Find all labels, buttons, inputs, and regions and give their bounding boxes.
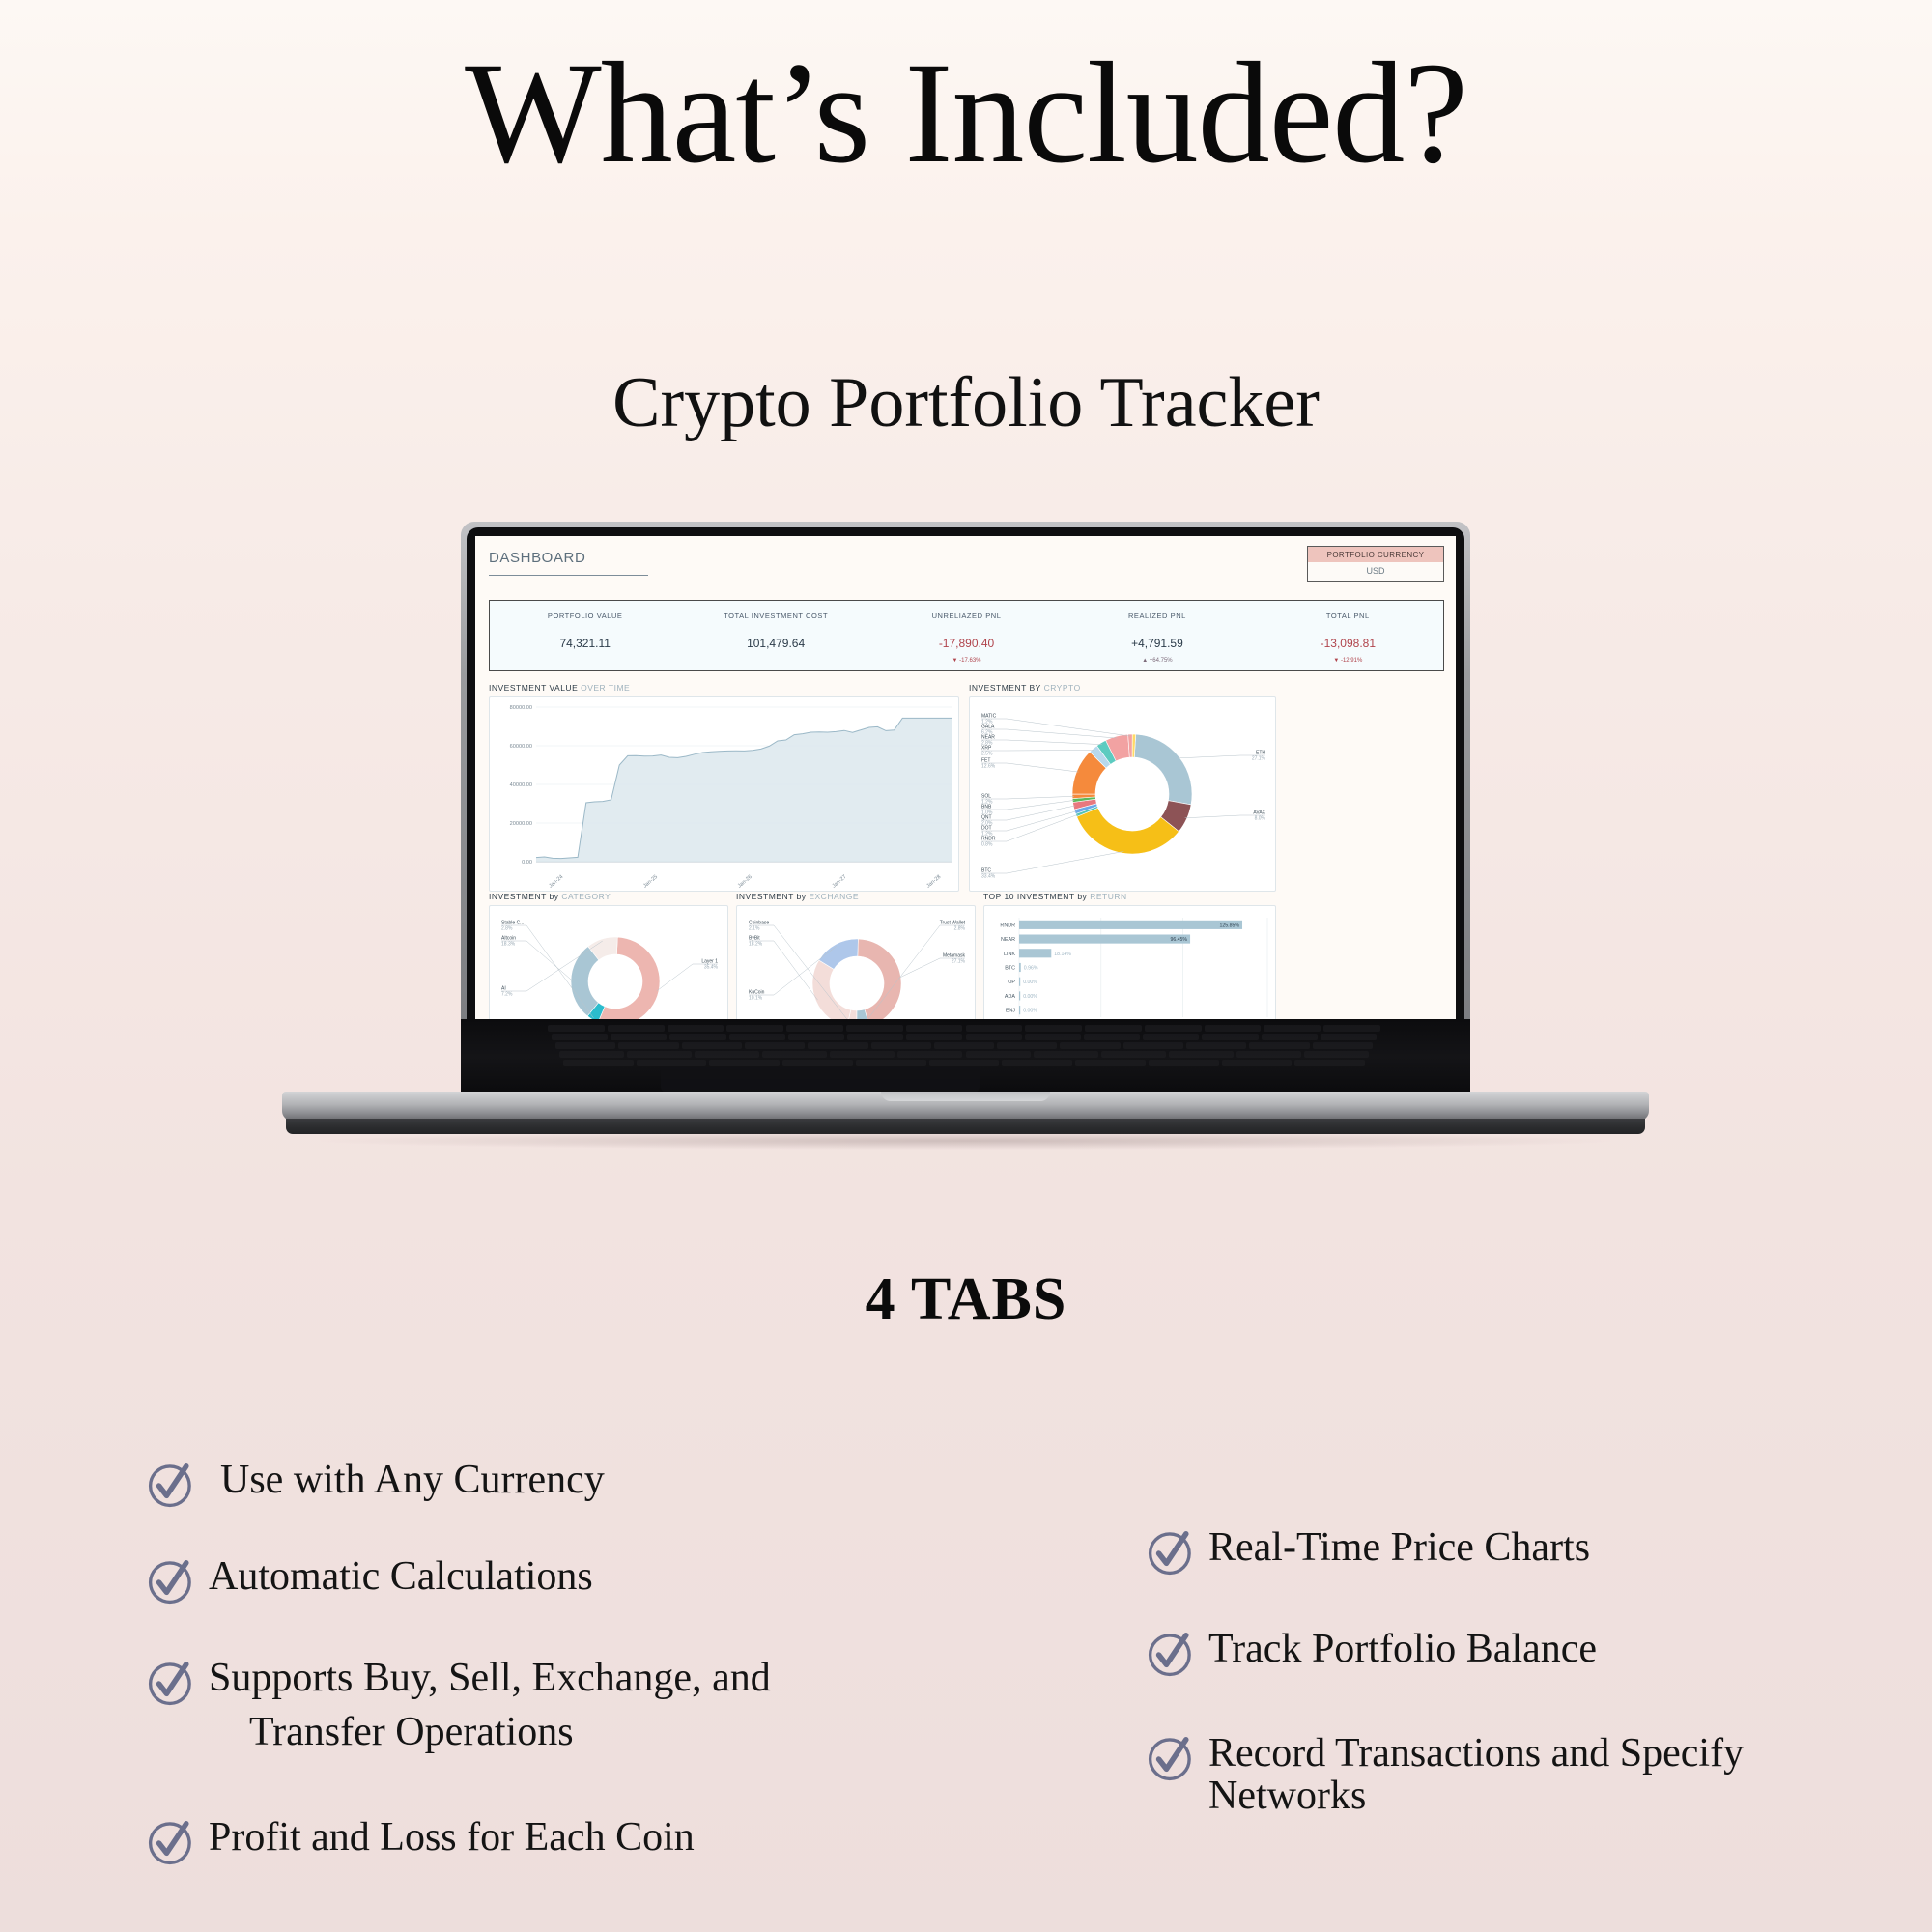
svg-text:BTC: BTC (1005, 966, 1015, 972)
kpi-value: -13,098.81 (1253, 637, 1443, 650)
chart-donut-container: Stable C...2.8%Altcoin18.3%AI7.2%Layer 1… (489, 905, 728, 1019)
panel-title: INVESTMENT by EXCHANGE (736, 892, 976, 901)
panel-title-bold: TOP 10 INVESTMENT by (983, 892, 1087, 901)
feature-label: Profit and Loss for Each Coin (209, 1816, 695, 1859)
panel-title-bold: INVESTMENT VALUE (489, 683, 578, 693)
panel-top10-investment-by-return: TOP 10 INVESTMENT by RETURN RNDR125.85%N… (983, 892, 1276, 1019)
chart-donut-container: Coinbase2.1%ByBit18.2%KuCoin10.1%Trust W… (736, 905, 976, 1019)
panel-title-bold: INVESTMENT by (489, 892, 558, 901)
check-circle-icon (1145, 1732, 1197, 1784)
check-circle-icon (145, 1555, 197, 1607)
area-chart: 0.0020000.0040000.0060000.0080000.00Jan-… (490, 697, 959, 891)
page-title: What’s Included? (0, 41, 1932, 185)
svg-text:96.45%: 96.45% (1170, 937, 1187, 943)
svg-text:2.8%: 2.8% (501, 926, 513, 932)
svg-text:0.00: 0.00 (522, 860, 532, 866)
panel-title-bold: INVESTMENT by (736, 892, 806, 901)
feature-list: Use with Any Currency Automatic Calculat… (0, 1430, 1932, 1874)
product-subtitle: Crypto Portfolio Tracker (0, 367, 1932, 439)
svg-text:2.8%: 2.8% (954, 926, 966, 932)
svg-text:0.8%: 0.8% (981, 842, 993, 848)
kpi-value: -17,890.40 (871, 637, 1062, 650)
feature-label: Track Portfolio Balance (1208, 1628, 1597, 1670)
svg-text:20000.00: 20000.00 (510, 821, 532, 827)
feature-item-supports-operations: Supports Buy, Sell, Exchange, and Transf… (145, 1657, 771, 1753)
feature-label-line1: Supports Buy, Sell, Exchange, and (209, 1656, 771, 1700)
kpi-unrealized-pnl: UNRELIAZED PNL -17,890.40 ▼ -17.63% (871, 601, 1062, 670)
panel-investment-by-category: INVESTMENT by CATEGORY Stable C...2.8%Al… (489, 892, 728, 1019)
svg-text:8.0%: 8.0% (1255, 816, 1266, 822)
panel-title-light: OVER TIME (581, 683, 630, 693)
top10-bar-chart: RNDR125.85%NEAR96.45%LINK18.14%BTC0.96%O… (984, 906, 1276, 1019)
kpi-label: TOTAL PNL (1253, 611, 1443, 620)
svg-text:LINK: LINK (1004, 952, 1015, 957)
chart-area-container: 0.0020000.0040000.0060000.0080000.00Jan-… (489, 696, 959, 892)
panel-title: INVESTMENT BY CRYPTO (969, 683, 1276, 693)
feature-label: Automatic Calculations (209, 1555, 593, 1598)
check-circle-icon (145, 1459, 197, 1511)
panel-title: INVESTMENT by CATEGORY (489, 892, 728, 901)
dashboard-header: DASHBOARD (489, 550, 648, 576)
panel-title-light: RETURN (1090, 892, 1126, 901)
feature-label: Use with Any Currency (220, 1459, 605, 1501)
laptop-mockup: DASHBOARD PORTFOLIO CURRENCY USD PORTFOL… (282, 522, 1649, 1217)
feature-item-automatic-calculations: Automatic Calculations (145, 1555, 593, 1607)
svg-text:ENJ: ENJ (1006, 1009, 1015, 1014)
kpi-delta: ▲ +64.75% (1062, 658, 1252, 664)
svg-text:10.1%: 10.1% (749, 996, 763, 1002)
panel-title-light: CATEGORY (561, 892, 611, 901)
svg-text:27.1%: 27.1% (1252, 756, 1266, 762)
panel-title: INVESTMENT VALUE OVER TIME (489, 683, 959, 693)
feature-label: Real-Time Price Charts (1208, 1526, 1590, 1569)
svg-text:0.00%: 0.00% (1023, 1009, 1037, 1014)
kpi-delta: ▼ -12.91% (1253, 658, 1443, 664)
svg-text:NEAR: NEAR (1001, 937, 1015, 943)
svg-text:35.4%: 35.4% (704, 965, 719, 971)
kpi-realized-pnl: REALIZED PNL +4,791.59 ▲ +64.75% (1062, 601, 1252, 670)
kpi-label: PORTFOLIO VALUE (490, 611, 680, 620)
dashboard-title: DASHBOARD (489, 550, 648, 566)
svg-text:27.1%: 27.1% (952, 959, 966, 965)
panel-investment-value-over-time: INVESTMENT VALUE OVER TIME 0.0020000.004… (489, 683, 959, 892)
exchange-donut-chart: Coinbase2.1%ByBit18.2%KuCoin10.1%Trust W… (737, 906, 976, 1019)
svg-text:18.14%: 18.14% (1054, 952, 1071, 957)
kpi-total-investment-cost: TOTAL INVESTMENT COST 101,479.64 (680, 601, 870, 670)
svg-text:RNDR: RNDR (1000, 923, 1015, 928)
svg-text:33.4%: 33.4% (981, 874, 996, 880)
feature-label-multiline: Supports Buy, Sell, Exchange, and Transf… (209, 1657, 771, 1753)
category-donut-chart: Stable C...2.8%Altcoin18.3%AI7.2%Layer 1… (490, 906, 728, 1019)
kpi-label: TOTAL INVESTMENT COST (680, 611, 870, 620)
svg-text:0.00%: 0.00% (1023, 980, 1037, 985)
portfolio-currency-value[interactable]: USD (1308, 562, 1443, 581)
svg-text:Jan-25: Jan-25 (642, 874, 659, 890)
title-underline (489, 575, 648, 576)
portfolio-currency-card[interactable]: PORTFOLIO CURRENCY USD (1307, 546, 1444, 582)
panel-title-light: EXCHANGE (809, 892, 859, 901)
kpi-delta: ▼ -17.63% (871, 658, 1062, 664)
svg-text:7.2%: 7.2% (501, 992, 513, 998)
kpi-row: PORTFOLIO VALUE 74,321.11 TOTAL INVESTME… (489, 600, 1444, 671)
feature-label-line2: Transfer Operations (249, 1711, 771, 1753)
panel-investment-by-exchange: INVESTMENT by EXCHANGE Coinbase2.1%ByBit… (736, 892, 976, 1019)
crypto-donut-chart: MATIC1.2%GALA6.2%NEAR2.8%XRP2.5%FET12.6%… (970, 697, 1276, 891)
kpi-value: 74,321.11 (490, 637, 680, 650)
svg-text:12.6%: 12.6% (981, 764, 996, 770)
svg-text:2.5%: 2.5% (981, 752, 993, 757)
kpi-portfolio-value: PORTFOLIO VALUE 74,321.11 (490, 601, 680, 670)
kpi-total-pnl: TOTAL PNL -13,098.81 ▼ -12.91% (1253, 601, 1443, 670)
panel-title: TOP 10 INVESTMENT by RETURN (983, 892, 1276, 901)
dashboard-app: DASHBOARD PORTFOLIO CURRENCY USD PORTFOL… (475, 536, 1456, 1019)
feature-item-profit-and-loss: Profit and Loss for Each Coin (145, 1816, 695, 1868)
panel-title-bold: INVESTMENT BY (969, 683, 1041, 693)
feature-label: Record Transactions and Specify Networks (1208, 1732, 1908, 1817)
svg-text:2.1%: 2.1% (749, 926, 760, 932)
svg-text:40000.00: 40000.00 (510, 782, 532, 788)
check-circle-icon (1145, 1526, 1197, 1578)
laptop-trackpad (661, 1067, 980, 1093)
check-circle-icon (1145, 1628, 1197, 1680)
check-circle-icon (145, 1816, 197, 1868)
kpi-label: REALIZED PNL (1062, 611, 1252, 620)
svg-text:125.85%: 125.85% (1220, 923, 1240, 928)
svg-text:Jan-24: Jan-24 (548, 874, 564, 890)
svg-text:80000.00: 80000.00 (510, 705, 532, 711)
kpi-label: UNRELIAZED PNL (871, 611, 1062, 620)
portfolio-currency-label: PORTFOLIO CURRENCY (1308, 547, 1443, 562)
panel-title-light: CRYPTO (1044, 683, 1081, 693)
chart-bar-container: RNDR125.85%NEAR96.45%LINK18.14%BTC0.96%O… (983, 905, 1276, 1019)
feature-item-use-with-any-currency: Use with Any Currency (145, 1459, 605, 1511)
panel-investment-by-crypto: INVESTMENT BY CRYPTO MATIC1.2%GALA6.2%NE… (969, 683, 1276, 892)
svg-text:18.2%: 18.2% (749, 942, 763, 948)
feature-item-track-portfolio-balance: Track Portfolio Balance (1145, 1628, 1597, 1680)
laptop-base-notch (881, 1092, 1050, 1101)
kpi-value: 101,479.64 (680, 637, 870, 650)
feature-item-record-transactions: Record Transactions and Specify Networks (1145, 1732, 1908, 1817)
svg-text:OP: OP (1008, 980, 1015, 985)
laptop-shadow (321, 1132, 1610, 1150)
svg-text:0.00%: 0.00% (1023, 994, 1037, 1000)
laptop-screen: DASHBOARD PORTFOLIO CURRENCY USD PORTFOL… (475, 536, 1456, 1019)
svg-text:60000.00: 60000.00 (510, 744, 532, 750)
tabs-count-label: 4 TABS (0, 1265, 1932, 1334)
kpi-value: +4,791.59 (1062, 637, 1252, 650)
chart-donut-container: MATIC1.2%GALA6.2%NEAR2.8%XRP2.5%FET12.6%… (969, 696, 1276, 892)
svg-text:Jan-27: Jan-27 (832, 874, 848, 890)
svg-text:Jan-28: Jan-28 (925, 874, 942, 890)
svg-text:Jan-26: Jan-26 (737, 874, 753, 890)
svg-text:18.3%: 18.3% (501, 942, 516, 948)
svg-text:0.96%: 0.96% (1024, 966, 1038, 972)
check-circle-icon (145, 1657, 197, 1709)
feature-item-real-time-price-charts: Real-Time Price Charts (1145, 1526, 1590, 1578)
svg-text:ADA: ADA (1005, 994, 1015, 1000)
